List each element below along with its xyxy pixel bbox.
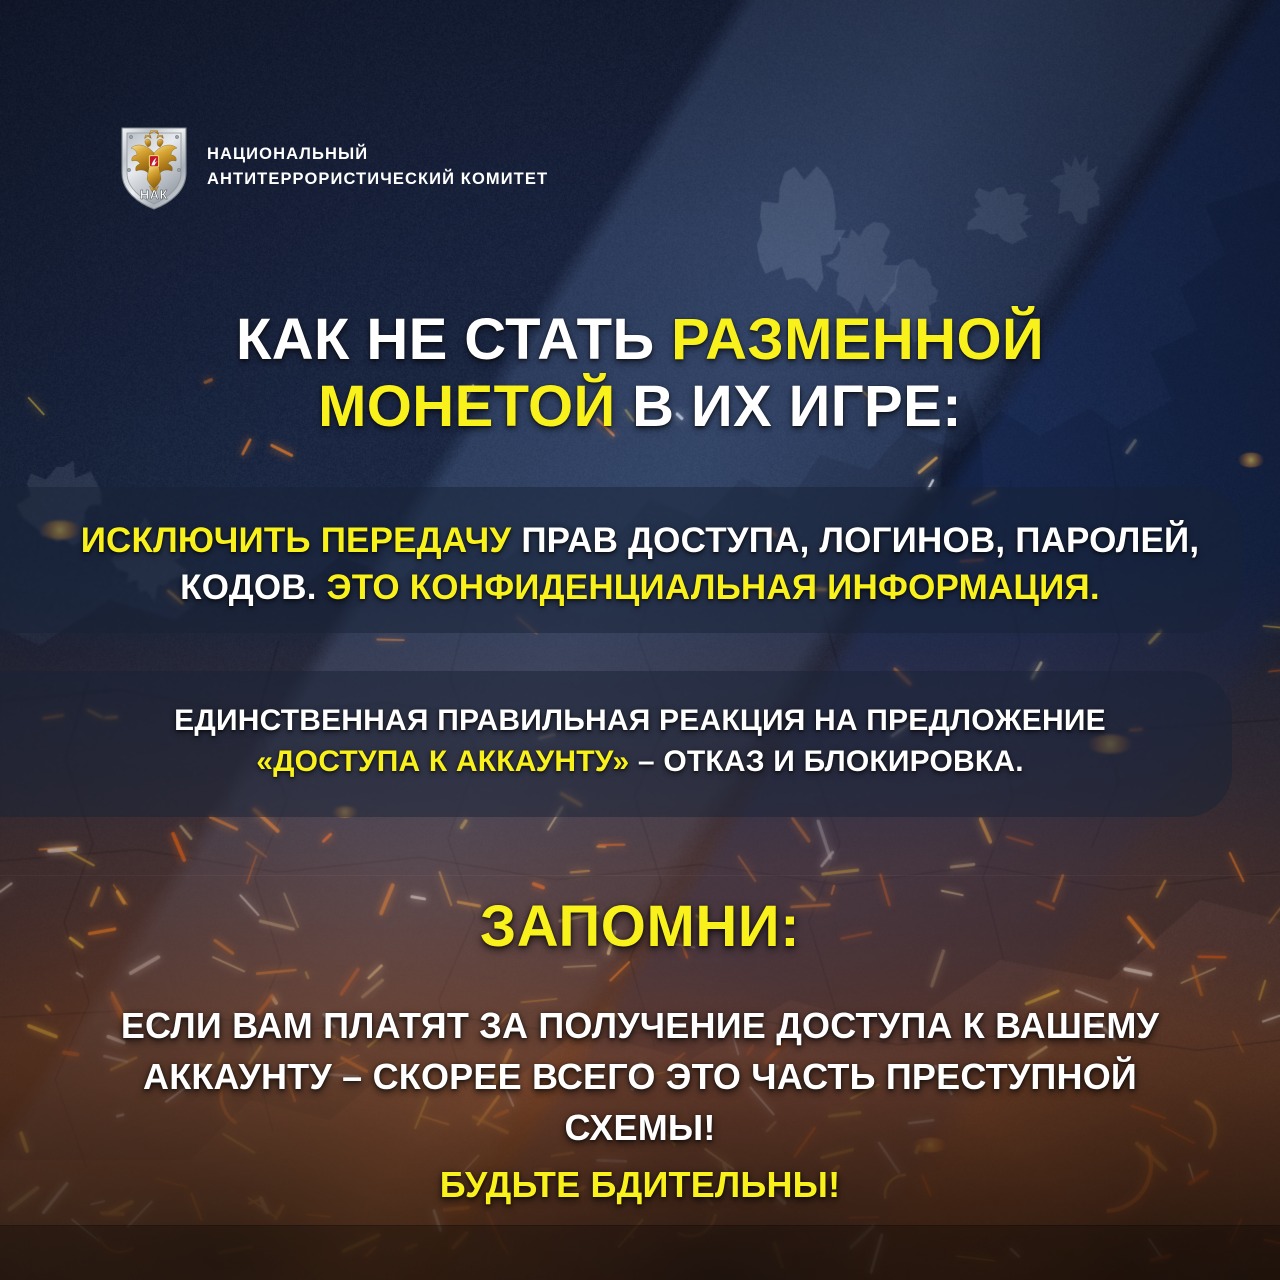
closing-body: ЕСЛИ ВАМ ПЛАТЯТ ЗА ПОЛУЧЕНИЕ ДОСТУПА К В… — [121, 1005, 1159, 1148]
headline-highlight-2: МОНЕТОЙ — [318, 374, 616, 439]
block2-plain-1: ЕДИНСТВЕННАЯ ПРАВИЛЬНАЯ РЕАКЦИЯ НА ПРЕДЛ… — [174, 704, 1106, 737]
headline-plain-1: КАК НЕ СТАТЬ — [236, 307, 671, 372]
bottom-dark-band — [0, 1225, 1280, 1280]
headline-line-1: КАК НЕ СТАТЬ РАЗМЕННОЙ — [60, 306, 1220, 373]
headline-highlight-1: РАЗМЕННОЙ — [671, 307, 1044, 372]
headline-plain-2: В ИХ ИГРЕ: — [616, 374, 962, 439]
block2-highlight: «ДОСТУПА К АККАУНТУ» — [256, 745, 629, 778]
vigilance-callout: БУДЬТЕ БДИТЕЛЬНЫ! — [78, 1159, 1202, 1210]
shield-abbr-text: НАК — [140, 188, 168, 202]
block2-plain-2: – ОТКАЗ И БЛОКИРОВКА. — [629, 745, 1023, 778]
org-name-line-1: НАЦИОНАЛЬНЫЙ — [207, 146, 548, 163]
headline-line-2: МОНЕТОЙ В ИХ ИГРЕ: — [60, 373, 1220, 440]
page-title: КАК НЕ СТАТЬ РАЗМЕННОЙ МОНЕТОЙ В ИХ ИГРЕ… — [0, 306, 1280, 441]
block1-highlight-1: ИСКЛЮЧИТЬ ПЕРЕДАЧУ — [81, 521, 512, 560]
seam-band-lower — [0, 1225, 1280, 1226]
seam-band-upper — [0, 875, 1280, 876]
nak-shield-emblem-icon: НАК — [118, 123, 190, 211]
confidential-data-block: ИСКЛЮЧИТЬ ПЕРЕДАЧУ ПРАВ ДОСТУПА, ЛОГИНОВ… — [0, 518, 1280, 611]
org-name-line-2: АНТИТЕРРОРИСТИЧЕСКИЙ КОМИТЕТ — [207, 171, 548, 188]
block1-highlight-2: ЭТО КОНФИДЕНЦИАЛЬНАЯ ИНФОРМАЦИЯ. — [327, 568, 1100, 607]
infographic-poster: НАК НАЦИОНАЛЬНЫЙ АНТИТЕРРОРИСТИЧЕСКИЙ КО… — [0, 0, 1280, 1280]
nak-logo: НАК НАЦИОНАЛЬНЫЙ АНТИТЕРРОРИСТИЧЕСКИЙ КО… — [118, 123, 548, 211]
closing-warning: ЕСЛИ ВАМ ПЛАТЯТ ЗА ПОЛУЧЕНИЕ ДОСТУПА К В… — [0, 1000, 1280, 1210]
org-name: НАЦИОНАЛЬНЫЙ АНТИТЕРРОРИСТИЧЕСКИЙ КОМИТЕ… — [207, 146, 548, 187]
correct-reaction-block: ЕДИНСТВЕННАЯ ПРАВИЛЬНАЯ РЕАКЦИЯ НА ПРЕДЛ… — [0, 700, 1280, 783]
remember-heading: ЗАПОМНИ: — [0, 893, 1280, 960]
